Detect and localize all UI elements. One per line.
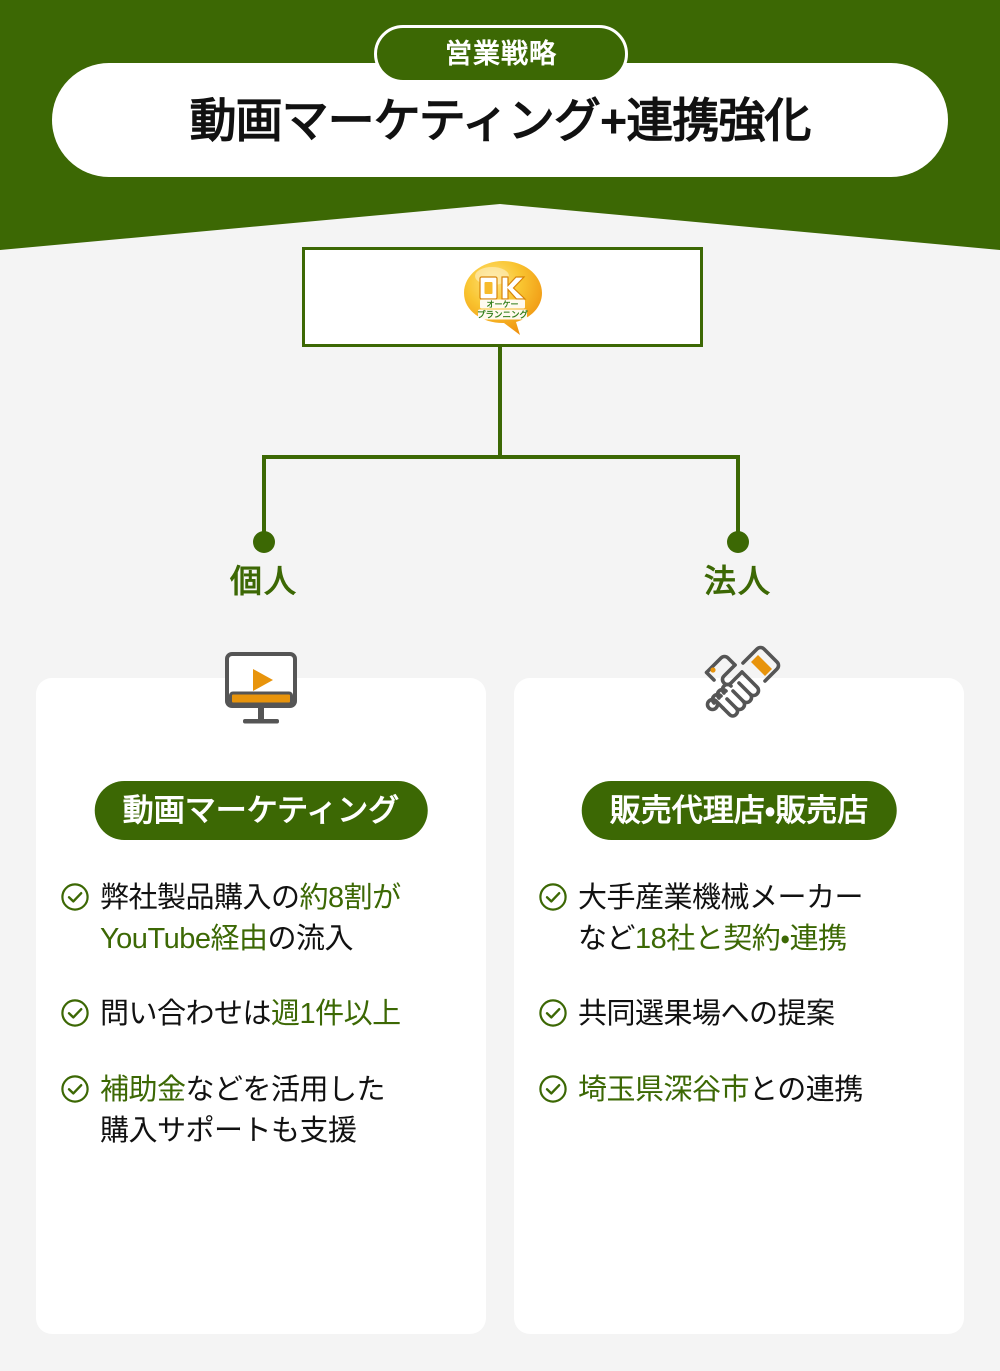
connector-stem — [498, 347, 502, 459]
check-circle-icon — [538, 1074, 568, 1104]
card-left-pill: 動画マーケティング — [95, 781, 428, 840]
bullet-item: 埼玉県深谷市との連携 — [538, 1070, 940, 1111]
header-chevron-shape — [0, 204, 1000, 250]
svg-text:オーケー: オーケー — [486, 300, 518, 309]
card-right-bullet-list: 大手産業機械メーカーなど18社と契約・連携共同選果場への提案埼玉県深谷市との連携 — [514, 878, 964, 1111]
check-circle-icon — [60, 1074, 90, 1104]
bullet-text: 共同選果場への提案 — [578, 994, 835, 1035]
card-video-marketing: 動画マーケティング 弊社製品購入の約8割がYouTube経由の流入問い合わせは週… — [36, 678, 486, 1334]
company-logo-box: オーケー プランニング — [302, 247, 703, 347]
card-left-pill-label: 動画マーケティング — [123, 795, 400, 826]
connector-drop-left — [262, 455, 266, 541]
branch-label-corporate: 法人 — [638, 562, 838, 600]
bullet-item: 大手産業機械メーカーなど18社と契約・連携 — [538, 878, 940, 960]
bullet-item: 問い合わせは週1件以上 — [60, 994, 462, 1035]
svg-text:プランニング: プランニング — [476, 310, 528, 320]
card-left-bullet-list: 弊社製品購入の約8割がYouTube経由の流入問い合わせは週1件以上補助金などを… — [36, 878, 486, 1152]
connector-drop-right — [736, 455, 740, 541]
bullet-item: 弊社製品購入の約8割がYouTube経由の流入 — [60, 878, 462, 960]
bullet-text: 弊社製品購入の約8割がYouTube経由の流入 — [100, 878, 401, 960]
branch-label-individual: 個人 — [164, 562, 364, 600]
bullet-text: 問い合わせは週1件以上 — [100, 994, 401, 1035]
bullet-item: 共同選果場への提案 — [538, 994, 940, 1035]
monitor-play-icon — [201, 642, 321, 742]
connector-node-left — [253, 531, 275, 553]
card-sales-agency: 販売代理店・販売店 大手産業機械メーカーなど18社と契約・連携共同選果場への提案… — [514, 678, 964, 1334]
card-right-pill: 販売代理店・販売店 — [582, 781, 897, 840]
check-circle-icon — [538, 998, 568, 1028]
connector-node-right — [727, 531, 749, 553]
page-title: 動画マーケティング+連携強化 — [190, 97, 811, 144]
ok-planning-logo: オーケー プランニング — [458, 257, 548, 337]
handshake-icon — [679, 642, 799, 742]
check-circle-icon — [60, 882, 90, 912]
bullet-text: 補助金などを活用した購入サポートも支援 — [100, 1070, 385, 1152]
bullet-item: 補助金などを活用した購入サポートも支援 — [60, 1070, 462, 1152]
card-right-pill-label: 販売代理店・販売店 — [610, 795, 869, 826]
strategy-badge-label: 営業戦略 — [445, 41, 557, 68]
strategy-badge: 営業戦略 — [374, 25, 628, 83]
bullet-text: 大手産業機械メーカーなど18社と契約・連携 — [578, 878, 863, 960]
check-circle-icon — [538, 882, 568, 912]
check-circle-icon — [60, 998, 90, 1028]
connector-horizontal-bus — [262, 455, 740, 459]
bullet-text: 埼玉県深谷市との連携 — [578, 1070, 863, 1111]
